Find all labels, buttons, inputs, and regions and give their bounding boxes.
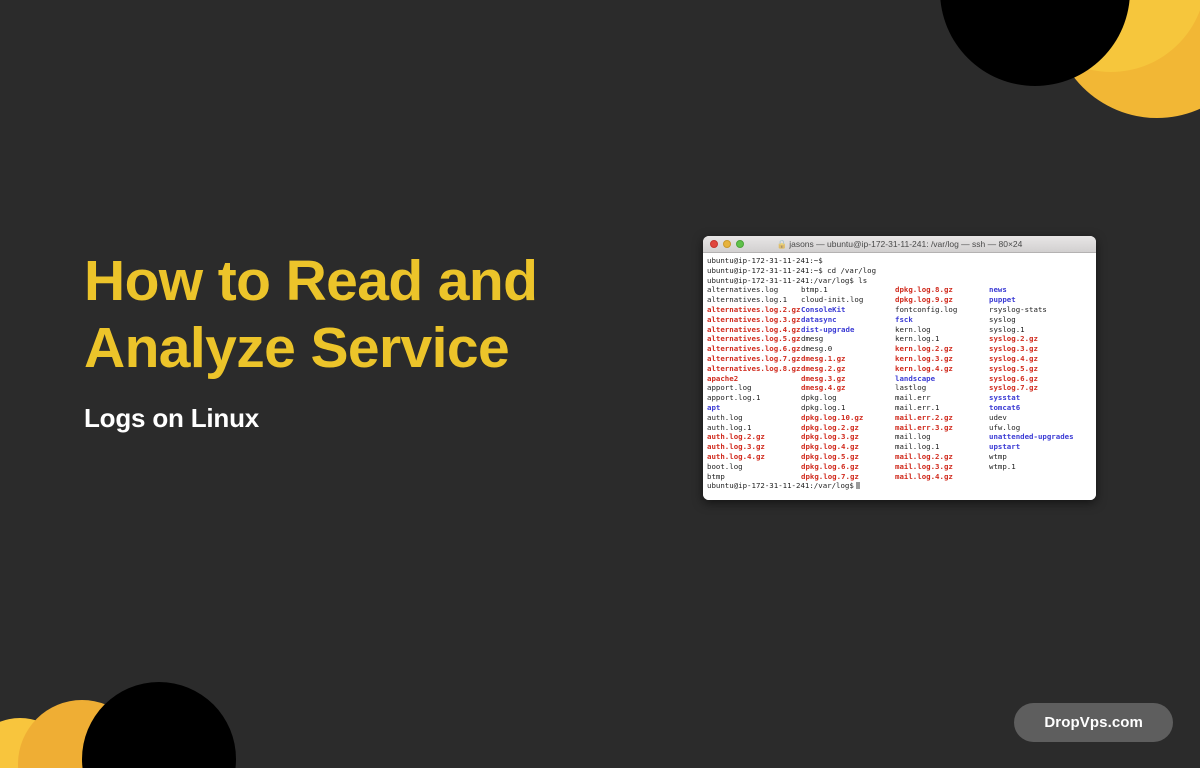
terminal-listing-entry: dmesg.0 — [801, 344, 895, 354]
terminal-listing-entry: upstart — [989, 442, 1083, 452]
terminal-final-prompt-text: ubuntu@ip-172-31-11-241:/var/log$ — [707, 481, 854, 490]
terminal-listing-row: alternatives.log.7.gzdmesg.1.gzkern.log.… — [707, 354, 1092, 364]
terminal-listing-entry: fsck — [895, 315, 989, 325]
terminal-listing-entry: syslog.7.gz — [989, 383, 1083, 393]
terminal-listing-entry: rsyslog-stats — [989, 305, 1083, 315]
terminal-listing-entry: dpkg.log.2.gz — [801, 423, 895, 433]
terminal-listing-row: apache2dmesg.3.gzlandscapesyslog.6.gz — [707, 374, 1092, 384]
terminal-listing-entry: btmp.1 — [801, 285, 895, 295]
terminal-listing-entry: auth.log.2.gz — [707, 432, 801, 442]
terminal-listing-entry: alternatives.log.8.gz — [707, 364, 801, 374]
terminal-listing-entry: apt — [707, 403, 801, 413]
brand-badge[interactable]: DropVps.com — [1014, 703, 1173, 742]
terminal-listing-entry: fontconfig.log — [895, 305, 989, 315]
terminal-listing-entry: mail.err.2.gz — [895, 413, 989, 423]
terminal-listing-row: auth.logdpkg.log.10.gzmail.err.2.gzudev — [707, 413, 1092, 423]
terminal-listing-entry: landscape — [895, 374, 989, 384]
page-title: How to Read and Analyze Service — [84, 248, 684, 381]
terminal-listing-row: alternatives.log.6.gzdmesg.0kern.log.2.g… — [707, 344, 1092, 354]
terminal-listing-entry: kern.log.2.gz — [895, 344, 989, 354]
terminal-listing-entry: alternatives.log.3.gz — [707, 315, 801, 325]
terminal-listing-row: alternatives.log.4.gzdist-upgradekern.lo… — [707, 325, 1092, 335]
terminal-listing-entry: wtmp.1 — [989, 462, 1083, 472]
terminal-listing-entry: dpkg.log.4.gz — [801, 442, 895, 452]
terminal-prompt-line: ubuntu@ip-172-31-11-241:~$ — [707, 256, 1092, 266]
terminal-listing-entry: ConsoleKit — [801, 305, 895, 315]
terminal-listing-entry: kern.log — [895, 325, 989, 335]
terminal-listing-entry: mail.err.3.gz — [895, 423, 989, 433]
terminal-listing-entry: auth.log.4.gz — [707, 452, 801, 462]
terminal-listing-entry: syslog.2.gz — [989, 334, 1083, 344]
terminal-file-listing: alternatives.logbtmp.1dpkg.log.8.gznewsa… — [707, 285, 1092, 481]
terminal-listing-entry: dpkg.log.6.gz — [801, 462, 895, 472]
terminal-listing-entry: mail.log.2.gz — [895, 452, 989, 462]
banner-canvas: How to Read and Analyze Service Logs on … — [0, 0, 1200, 768]
terminal-listing-entry: dmesg — [801, 334, 895, 344]
terminal-listing-entry: wtmp — [989, 452, 1083, 462]
terminal-listing-row: apport.logdmesg.4.gzlastlogsyslog.7.gz — [707, 383, 1092, 393]
terminal-listing-entry: dpkg.log.1 — [801, 403, 895, 413]
terminal-listing-entry: cloud-init.log — [801, 295, 895, 305]
terminal-listing-entry: tomcat6 — [989, 403, 1083, 413]
terminal-listing-entry: dmesg.3.gz — [801, 374, 895, 384]
terminal-listing-row: auth.log.3.gzdpkg.log.4.gzmail.log.1upst… — [707, 442, 1092, 452]
decor-circle-bottom-left-black — [82, 682, 236, 768]
terminal-listing-entry: alternatives.log.5.gz — [707, 334, 801, 344]
terminal-listing-entry: dmesg.1.gz — [801, 354, 895, 364]
terminal-listing-entry: lastlog — [895, 383, 989, 393]
page-subtitle: Logs on Linux — [84, 403, 684, 434]
terminal-final-prompt: ubuntu@ip-172-31-11-241:/var/log$ — [707, 481, 1092, 491]
terminal-listing-entry: news — [989, 285, 1083, 295]
terminal-listing-entry: apport.log — [707, 383, 801, 393]
terminal-listing-row: auth.log.1dpkg.log.2.gzmail.err.3.gzufw.… — [707, 423, 1092, 433]
terminal-prompt-line: ubuntu@ip-172-31-11-241:~$ cd /var/log — [707, 266, 1092, 276]
terminal-prompt-line: ubuntu@ip-172-31-11-241:/var/log$ ls — [707, 276, 1092, 286]
terminal-listing-row: alternatives.log.8.gzdmesg.2.gzkern.log.… — [707, 364, 1092, 374]
terminal-listing-entry: kern.log.3.gz — [895, 354, 989, 364]
terminal-listing-entry: dmesg.2.gz — [801, 364, 895, 374]
terminal-listing-row: alternatives.log.5.gzdmesgkern.log.1sysl… — [707, 334, 1092, 344]
lock-icon: 🔒 — [777, 239, 788, 249]
terminal-listing-row: aptdpkg.log.1mail.err.1tomcat6 — [707, 403, 1092, 413]
terminal-listing-row: alternatives.log.2.gzConsoleKitfontconfi… — [707, 305, 1092, 315]
terminal-listing-entry: mail.log.4.gz — [895, 472, 989, 482]
terminal-listing-entry: dist-upgrade — [801, 325, 895, 335]
terminal-listing-entry: alternatives.log.6.gz — [707, 344, 801, 354]
terminal-listing-entry: dpkg.log — [801, 393, 895, 403]
terminal-listing-row: auth.log.2.gzdpkg.log.3.gzmail.logunatte… — [707, 432, 1092, 442]
terminal-title: 🔒jasons — ubuntu@ip-172-31-11-241: /var/… — [703, 239, 1096, 250]
terminal-listing-entry: syslog — [989, 315, 1083, 325]
terminal-listing-entry: syslog.1 — [989, 325, 1083, 335]
terminal-listing-entry: datasync — [801, 315, 895, 325]
terminal-listing-entry: syslog.6.gz — [989, 374, 1083, 384]
terminal-window[interactable]: 🔒jasons — ubuntu@ip-172-31-11-241: /var/… — [703, 236, 1096, 500]
terminal-listing-entry: mail.err.1 — [895, 403, 989, 413]
terminal-listing-entry: ufw.log — [989, 423, 1083, 433]
terminal-listing-entry: udev — [989, 413, 1083, 423]
terminal-screen[interactable]: ubuntu@ip-172-31-11-241:~$ ubuntu@ip-172… — [703, 253, 1096, 500]
terminal-listing-entry: alternatives.log.7.gz — [707, 354, 801, 364]
terminal-listing-entry: btmp — [707, 472, 801, 482]
terminal-listing-entry: alternatives.log — [707, 285, 801, 295]
terminal-listing-entry: puppet — [989, 295, 1083, 305]
terminal-titlebar[interactable]: 🔒jasons — ubuntu@ip-172-31-11-241: /var/… — [703, 236, 1096, 253]
terminal-listing-entry: syslog.3.gz — [989, 344, 1083, 354]
terminal-listing-entry: syslog.4.gz — [989, 354, 1083, 364]
terminal-listing-entry: dpkg.log.8.gz — [895, 285, 989, 295]
terminal-listing-entry — [989, 472, 1083, 482]
terminal-listing-entry: auth.log.3.gz — [707, 442, 801, 452]
terminal-listing-entry: dpkg.log.10.gz — [801, 413, 895, 423]
terminal-listing-entry: alternatives.log.2.gz — [707, 305, 801, 315]
terminal-listing-entry: dpkg.log.5.gz — [801, 452, 895, 462]
terminal-listing-entry: dpkg.log.3.gz — [801, 432, 895, 442]
terminal-listing-entry: unattended-upgrades — [989, 432, 1083, 442]
terminal-listing-entry: boot.log — [707, 462, 801, 472]
page-title-line-2: Analyze Service — [84, 315, 684, 382]
terminal-listing-entry: auth.log — [707, 413, 801, 423]
headline-block: How to Read and Analyze Service Logs on … — [84, 248, 684, 434]
terminal-listing-entry: dmesg.4.gz — [801, 383, 895, 393]
terminal-listing-entry: alternatives.log.1 — [707, 295, 801, 305]
terminal-listing-entry: mail.err — [895, 393, 989, 403]
terminal-listing-entry: kern.log.4.gz — [895, 364, 989, 374]
terminal-listing-row: alternatives.logbtmp.1dpkg.log.8.gznews — [707, 285, 1092, 295]
terminal-listing-row: alternatives.log.3.gzdatasyncfscksyslog — [707, 315, 1092, 325]
terminal-listing-entry: dpkg.log.9.gz — [895, 295, 989, 305]
terminal-listing-entry: auth.log.1 — [707, 423, 801, 433]
terminal-cursor — [856, 482, 860, 490]
terminal-listing-entry: mail.log.3.gz — [895, 462, 989, 472]
terminal-listing-row: btmpdpkg.log.7.gzmail.log.4.gz — [707, 472, 1092, 482]
terminal-listing-entry: syslog.5.gz — [989, 364, 1083, 374]
terminal-listing-entry: sysstat — [989, 393, 1083, 403]
terminal-listing-row: alternatives.log.1cloud-init.logdpkg.log… — [707, 295, 1092, 305]
terminal-listing-entry: apport.log.1 — [707, 393, 801, 403]
terminal-listing-entry: alternatives.log.4.gz — [707, 325, 801, 335]
terminal-listing-entry: kern.log.1 — [895, 334, 989, 344]
terminal-listing-entry: dpkg.log.7.gz — [801, 472, 895, 482]
terminal-listing-row: apport.log.1dpkg.logmail.errsysstat — [707, 393, 1092, 403]
terminal-title-text: jasons — ubuntu@ip-172-31-11-241: /var/l… — [789, 239, 1022, 249]
terminal-listing-entry: apache2 — [707, 374, 801, 384]
terminal-listing-row: auth.log.4.gzdpkg.log.5.gzmail.log.2.gzw… — [707, 452, 1092, 462]
page-title-line-1: How to Read and — [84, 248, 684, 315]
terminal-listing-row: boot.logdpkg.log.6.gzmail.log.3.gzwtmp.1 — [707, 462, 1092, 472]
terminal-listing-entry: mail.log.1 — [895, 442, 989, 452]
terminal-listing-entry: mail.log — [895, 432, 989, 442]
